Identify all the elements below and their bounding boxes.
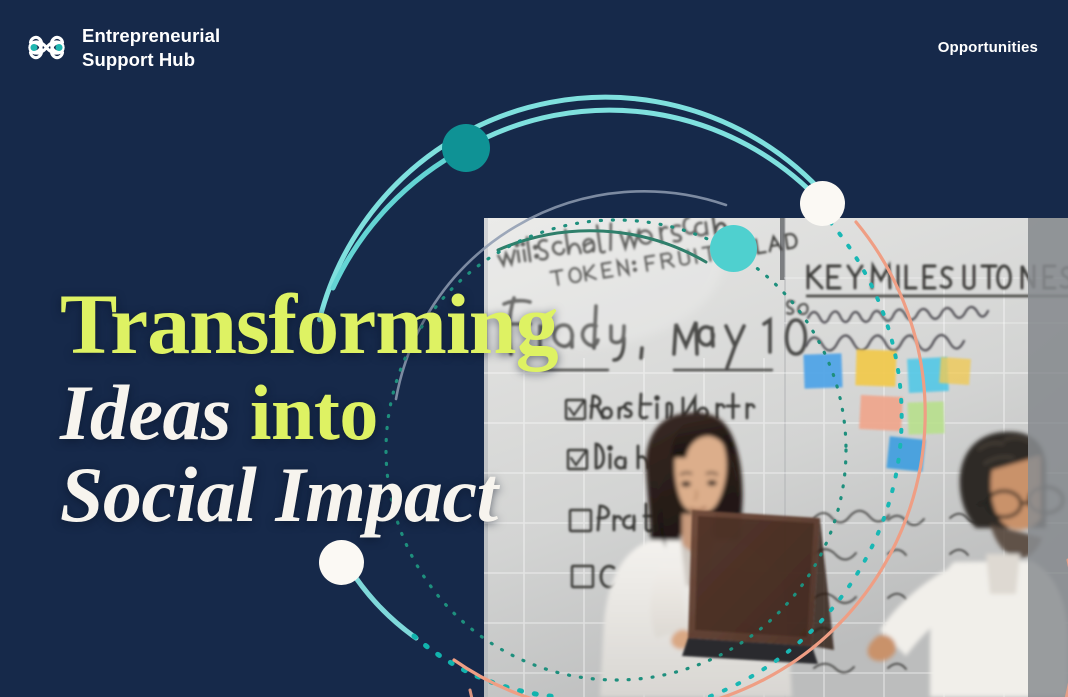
site-header: Entrepreneurial Support Hub Opportunitie… [0, 0, 1068, 95]
butterfly-knot-logo-icon [24, 25, 69, 70]
headline-line-3: Social Impact [60, 457, 620, 533]
nav-item-opportunities[interactable]: Opportunities [938, 39, 1038, 56]
brand-logo[interactable]: Entrepreneurial Support Hub [24, 24, 220, 71]
decor-dot-white-top [800, 181, 845, 226]
headline-into: into [250, 369, 378, 456]
headline-ideas: Ideas [60, 369, 231, 456]
decor-dot-white-bottom [319, 540, 364, 585]
hero-slide: Entrepreneurial Support Hub Opportunitie… [0, 0, 1068, 697]
headline-line-2: Ideas into [60, 375, 620, 451]
headline-line-1: Transforming [60, 283, 620, 366]
hero-headline: Transforming Ideas into Social Impact [60, 283, 620, 533]
decor-dot-teal-dark [442, 124, 490, 172]
decor-dot-teal-light [710, 225, 757, 272]
brand-name: Entrepreneurial Support Hub [82, 24, 220, 71]
